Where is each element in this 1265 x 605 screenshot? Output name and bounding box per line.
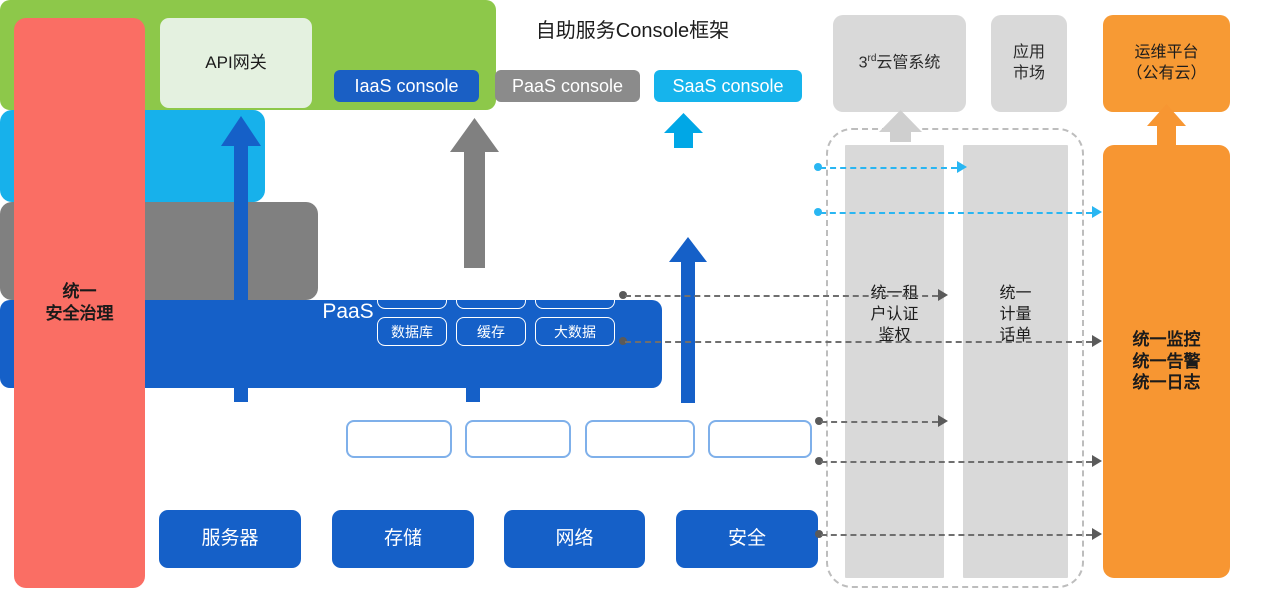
iaas-console-label: IaaS console xyxy=(354,77,458,95)
arrow-infra-to-saas xyxy=(669,237,707,403)
saas-service-video-cloud-label: 视频云 xyxy=(654,203,702,219)
resource-box-storage: 存储 xyxy=(332,510,474,568)
paas-console-chip[interactable]: PaaS console xyxy=(495,70,640,102)
app-market-label: 应用 市场 xyxy=(1013,43,1045,84)
saas-console-label: SaaS console xyxy=(672,77,783,95)
dashed-line-paas-to-auth xyxy=(625,295,938,297)
saas-console-chip[interactable]: SaaS console xyxy=(654,70,802,102)
infra-service-cce[interactable]: CCE xyxy=(708,420,812,458)
paas-service-cache[interactable]: 缓存 xyxy=(456,317,526,346)
arrow-head-resource-to-ops xyxy=(1092,528,1102,540)
iaas-console-chip[interactable]: IaaS console xyxy=(334,70,479,102)
paas-service-modelarts[interactable]: ModelArts xyxy=(535,280,615,309)
arrow-head-saas-to-auth xyxy=(957,161,967,173)
resource-box-security-label: 安全 xyxy=(728,527,766,551)
paas-service-database-label: 数据库 xyxy=(391,325,433,339)
infra-service-storage[interactable]: Storage xyxy=(465,420,571,458)
ops-panel-connector-stub xyxy=(1157,128,1176,146)
dashed-line-infra-to-ops xyxy=(821,461,1092,463)
paas-service-database[interactable]: 数据库 xyxy=(377,317,447,346)
arrow-head-infra-to-auth xyxy=(938,415,948,427)
resource-box-network: 网络 xyxy=(504,510,645,568)
console-framework-title: 自助服务Console框架 xyxy=(0,14,1265,43)
resource-box-server-label: 服务器 xyxy=(201,527,258,551)
third-party-cloud-label: 3rd云管系统 xyxy=(859,53,941,74)
dashed-line-saas-to-ops xyxy=(820,212,1092,214)
resource-box-server: 服务器 xyxy=(159,510,301,568)
saas-service-video-cloud[interactable]: 视频云 xyxy=(641,196,715,226)
paas-service-modelarts-label: ModelArts xyxy=(543,288,606,302)
arrow-paas-to-console xyxy=(450,118,499,267)
infra-service-storage-label: Storage xyxy=(485,430,552,449)
dashed-line-resource-to-ops xyxy=(821,534,1092,536)
security-governance-label: 统一 安全治理 xyxy=(46,281,114,325)
saas-service-iot-label: IoT xyxy=(747,164,770,180)
dashed-line-infra-to-auth xyxy=(821,421,938,423)
ops-monitoring-panel: 统一监控 统一告警 统一日志 xyxy=(1103,145,1230,578)
paas-service-roma-label: ROMA xyxy=(391,288,433,302)
arrow-head-paas-to-ops xyxy=(1092,335,1102,347)
arrow-saas-to-saas-console xyxy=(664,113,703,148)
saas-service-desktop-cloud[interactable]: 桌面云 xyxy=(723,196,795,226)
security-governance-panel: 统一 安全治理 xyxy=(14,18,145,588)
resource-box-network-label: 网络 xyxy=(555,527,593,551)
ops-monitoring-label: 统一监控 统一告警 统一日志 xyxy=(1133,329,1201,394)
ops-platform-label: 运维平台 （公有云） xyxy=(1126,43,1206,84)
paas-console-label: PaaS console xyxy=(512,77,623,95)
saas-service-blockchain-label: 区块链 xyxy=(654,164,702,180)
dashed-line-saas-to-auth xyxy=(820,167,957,169)
saas-service-desktop-cloud-label: 桌面云 xyxy=(735,203,783,219)
paas-label: PaaS xyxy=(312,300,384,324)
paas-service-bigdata[interactable]: 大数据 xyxy=(535,317,615,346)
third-party-cloud-box: 3rd云管系统 xyxy=(833,15,966,112)
dashed-line-paas-to-ops xyxy=(625,341,1092,343)
unified-infrastructure-label: 统一基础设施服务 xyxy=(172,425,347,454)
ops-platform-box: 运维平台 （公有云） xyxy=(1103,15,1230,112)
saas-service-iot[interactable]: IoT xyxy=(723,157,795,187)
paas-service-dgc-label: DGC xyxy=(475,288,506,302)
infra-service-cce-label: CCE xyxy=(740,430,780,449)
arrow-head-paas-to-auth xyxy=(938,289,948,301)
infra-service-network-label: Network xyxy=(605,430,675,449)
arrow-head-saas-to-ops xyxy=(1092,206,1102,218)
unified-tenant-auth-column xyxy=(845,145,944,578)
resource-box-security: 安全 xyxy=(676,510,818,568)
paas-service-cache-label: 缓存 xyxy=(477,325,505,339)
api-gateway-label: API网关 xyxy=(205,52,266,74)
architecture-diagram: 统一 安全治理 API网关 自助服务Console框架 IaaS console… xyxy=(0,0,1265,605)
paas-service-roma[interactable]: ROMA xyxy=(377,280,447,309)
paas-service-bigdata-label: 大数据 xyxy=(554,325,596,339)
arrow-paas-nub xyxy=(464,258,485,268)
app-market-box: 应用 市场 xyxy=(991,15,1067,112)
saas-service-blockchain[interactable]: 区块链 xyxy=(641,157,715,187)
infra-service-compute-label: Compute xyxy=(360,430,437,449)
unified-tenant-auth-label: 统一租 户认证 鉴权 xyxy=(845,283,944,346)
resource-box-storage-label: 存储 xyxy=(384,527,422,551)
paas-service-dgc[interactable]: DGC xyxy=(456,280,526,309)
arrow-head-infra-to-ops xyxy=(1092,455,1102,467)
unified-metering-label: 统一 计量 话单 xyxy=(963,283,1068,346)
saas-label: SaaS xyxy=(561,176,639,200)
infra-service-compute[interactable]: Compute xyxy=(346,420,452,458)
unified-metering-column xyxy=(963,145,1068,578)
infra-service-network[interactable]: Network xyxy=(585,420,695,458)
